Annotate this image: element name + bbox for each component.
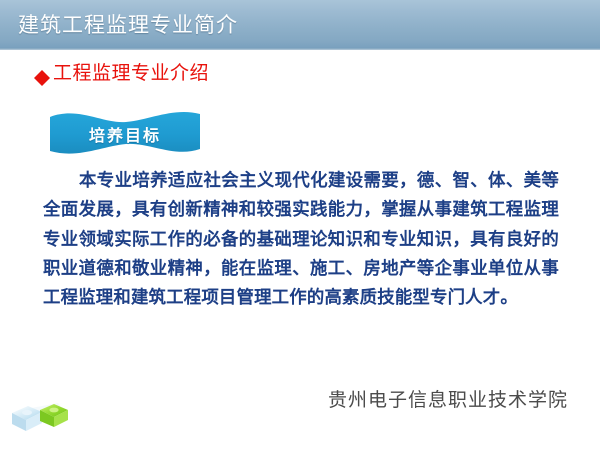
isometric-blocks-icon <box>6 393 72 441</box>
slide-header-band: 建筑工程监理专业简介 <box>0 0 600 50</box>
section-heading-label: 工程监理专业介绍 <box>53 62 209 86</box>
section-heading: 工程监理专业介绍 <box>34 62 209 86</box>
body-paragraph: 本专业培养适应社会主义现代化建设需要，德、智、体、美等全面发展，具有创新精神和较… <box>43 166 559 312</box>
footer-organization: 贵州电子信息职业技术学院 <box>328 388 568 414</box>
ribbon-banner: 培养目标 <box>48 108 202 158</box>
red-diamond-icon <box>34 62 50 78</box>
presentation-slide: 建筑工程监理专业简介 工程监理专业介绍 培养目标 本专业培养适应社会主义现代化建… <box>0 0 600 450</box>
ribbon-label: 培养目标 <box>48 108 202 158</box>
slide-title: 建筑工程监理专业简介 <box>18 12 238 40</box>
